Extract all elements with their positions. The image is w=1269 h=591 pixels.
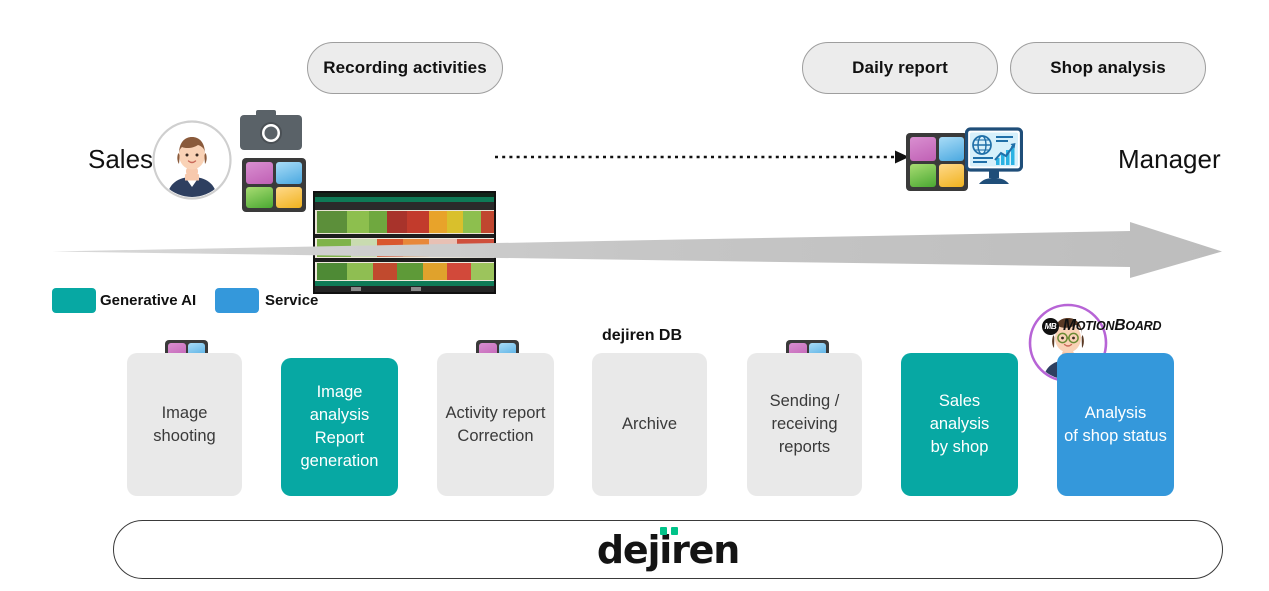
motionboard-badge: MB (1042, 318, 1059, 335)
apps-tile-blue (276, 162, 303, 184)
legend-swatch-generative-ai (52, 288, 96, 313)
process-box-label: Archive (622, 413, 677, 436)
dejiren-accent-dot-2 (671, 527, 678, 535)
apps-grid-icon-sales (242, 158, 306, 212)
process-box-label: Sales analysis by shop (907, 390, 1012, 458)
pill-recording-activities[interactable]: Recording activities (307, 42, 503, 94)
process-box-archive[interactable]: Archive (592, 353, 707, 496)
apps-tile-pink (910, 137, 936, 161)
apps-tile-orange (939, 164, 965, 188)
pill-daily-report[interactable]: Daily report (802, 42, 998, 94)
sales-avatar-illustration (152, 120, 232, 200)
dashboard-monitor-glyph (965, 127, 1023, 187)
dejiren-accent-dot-1 (660, 527, 667, 535)
process-box-label: Analysis of shop status (1064, 402, 1167, 448)
sales-role-label: Sales (88, 144, 153, 175)
motionboard-wordmark: MOTIONBOARD (1063, 317, 1161, 335)
apps-tile-green (910, 164, 936, 188)
process-flow-arrow (52, 222, 1222, 283)
pill-label: Shop analysis (1050, 58, 1166, 78)
legend-swatch-service (215, 288, 259, 313)
dotted-arrow-glyph (495, 148, 910, 166)
legend-label-generative-ai: Generative AI (100, 292, 196, 309)
pill-shop-analysis[interactable]: Shop analysis (1010, 42, 1206, 94)
process-box-analysis-of-shop-status[interactable]: Analysis of shop status (1057, 353, 1174, 496)
process-box-label: Activity report Correction (446, 402, 546, 448)
dejiren-platform-bar: dejiren (113, 520, 1223, 579)
camera-icon-glyph (240, 108, 302, 152)
apps-tile-orange (276, 187, 303, 209)
pill-label: Daily report (852, 58, 948, 78)
dejiren-logo: dejiren (597, 528, 739, 572)
apps-tile-blue (939, 137, 965, 161)
process-flow-arrow-glyph (52, 222, 1222, 278)
camera-icon (240, 108, 302, 157)
legend-label-service: Service (265, 292, 318, 309)
dejiren-wordmark: dejiren (597, 528, 739, 572)
pill-label: Recording activities (323, 58, 487, 78)
process-box-image-analysis[interactable]: Image analysis Report generation (281, 358, 398, 496)
process-box-label: Image analysis Report generation (287, 381, 392, 472)
process-box-image-shooting[interactable]: Image shooting (127, 353, 242, 496)
dotted-arrow-connector (495, 148, 910, 171)
process-box-sales-analysis-by-shop[interactable]: Sales analysis by shop (901, 353, 1018, 496)
process-box-label: Sending / receiving reports (770, 390, 840, 458)
apps-tile-pink (246, 162, 273, 184)
motionboard-logo: MB MOTIONBOARD (1042, 317, 1161, 335)
dashboard-monitor-icon (965, 127, 1023, 192)
caption-dejiren-db: dejiren DB (602, 327, 682, 345)
apps-tile-green (246, 187, 273, 209)
process-box-label: Image shooting (153, 402, 215, 448)
sales-avatar (152, 120, 232, 200)
process-box-sending-receiving-reports[interactable]: Sending / receiving reports (747, 353, 862, 496)
apps-grid-icon-manager (906, 133, 968, 191)
process-box-activity-report[interactable]: Activity report Correction (437, 353, 554, 496)
manager-role-label: Manager (1118, 144, 1221, 175)
